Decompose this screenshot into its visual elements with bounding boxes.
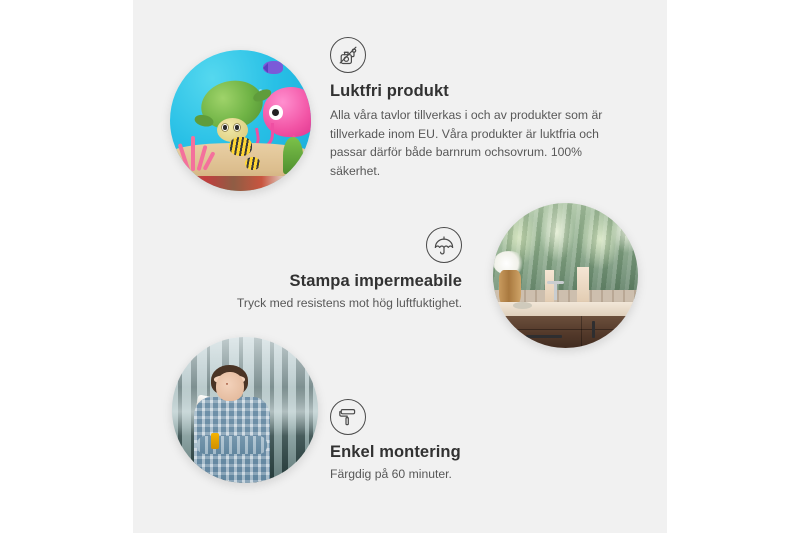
paint-roller-icon <box>330 399 366 435</box>
no-fragrance-icon <box>330 37 366 73</box>
photo-installer-forest-wallpaper <box>172 337 318 483</box>
wooden-vanity <box>502 316 638 348</box>
photo-bathroom-botanical-wallpaper <box>493 203 638 348</box>
feature-title: Luktfri produkt <box>330 82 630 101</box>
soap-dish <box>513 302 532 309</box>
underwater-scene <box>170 50 311 191</box>
cabinet-pull <box>592 321 595 338</box>
candle <box>577 267 589 303</box>
purple-fish-icon <box>263 61 283 74</box>
feature-body: Tryck med resistens mot hög luftfuktighe… <box>180 294 462 313</box>
octopus-eye <box>269 105 284 120</box>
cabinet-pull <box>622 321 625 338</box>
face <box>216 372 244 401</box>
drawer-pull <box>526 335 561 338</box>
coral <box>178 135 217 172</box>
feature-body: Färgdig på 60 minuter. <box>330 465 600 484</box>
turtle-eye <box>221 123 229 132</box>
photo-underwater-kids-illustration <box>170 50 311 191</box>
seaweed <box>283 137 303 174</box>
roller-grip <box>211 433 218 449</box>
feature-waterproof: Stampa impermeabile Tryck med resistens … <box>180 227 462 313</box>
umbrella-icon <box>426 227 462 263</box>
bathroom-scene <box>493 203 638 348</box>
feature-title: Enkel montering <box>330 443 600 462</box>
folded-arms <box>197 436 267 454</box>
feature-infographic: Luktfri produkt Alla våra tavlor tillver… <box>0 0 800 533</box>
feature-easy-install: Enkel montering Färgdig på 60 minuter. <box>330 399 600 484</box>
yellow-fish-icon <box>245 157 261 170</box>
yellow-fish-icon <box>229 137 252 155</box>
smile <box>226 383 228 385</box>
feature-title: Stampa impermeabile <box>180 272 462 291</box>
bottom-strip <box>170 176 311 192</box>
faucet <box>554 281 557 300</box>
turtle-eye <box>233 123 241 132</box>
candle <box>545 270 554 302</box>
feature-odourless: Luktfri produkt Alla våra tavlor tillver… <box>330 37 630 180</box>
installer-scene <box>172 337 318 483</box>
feature-body: Alla våra tavlor tillverkas i och av pro… <box>330 106 630 180</box>
